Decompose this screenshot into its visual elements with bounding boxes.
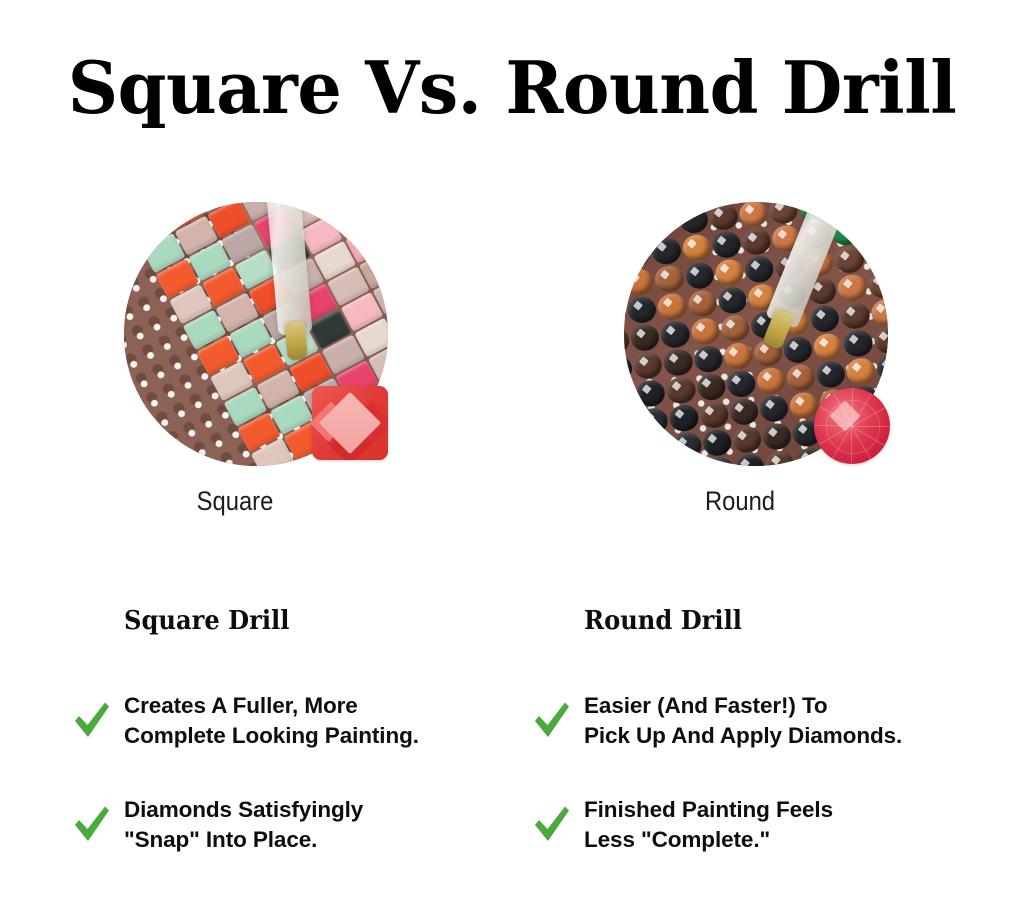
round-gem-swatch bbox=[814, 388, 890, 464]
list-item-label: Diamonds Satisfyingly "Snap" Into Place. bbox=[124, 795, 363, 855]
list-item-label: Creates A Fuller, More Complete Looking … bbox=[124, 691, 419, 751]
list-item: Creates A Fuller, More Complete Looking … bbox=[72, 691, 542, 751]
square-photo-caption: Square bbox=[103, 484, 367, 518]
check-icon bbox=[532, 803, 572, 847]
photo-comparison-row bbox=[0, 200, 1024, 480]
square-gem-swatch bbox=[312, 386, 388, 460]
list-item: Finished Painting Feels Less "Complete." bbox=[532, 795, 1002, 855]
square-drill-heading: Square Drill bbox=[124, 605, 289, 637]
infographic-canvas: Square Vs. Round Drill bbox=[0, 0, 1024, 922]
round-photo-block bbox=[612, 200, 912, 480]
list-item-label: Easier (And Faster!) To Pick Up And Appl… bbox=[584, 691, 902, 751]
check-icon bbox=[72, 803, 112, 847]
pen-wax-tip bbox=[285, 321, 308, 361]
check-icon bbox=[72, 699, 112, 743]
check-icon bbox=[532, 699, 572, 743]
list-item: Diamonds Satisfyingly "Snap" Into Place. bbox=[72, 795, 542, 855]
page-title: Square Vs. Round Drill bbox=[15, 48, 1008, 128]
square-photo-block bbox=[112, 200, 412, 480]
round-drill-heading: Round Drill bbox=[584, 605, 742, 637]
list-item: Easier (And Faster!) To Pick Up And Appl… bbox=[532, 691, 1002, 751]
list-item-label: Finished Painting Feels Less "Complete." bbox=[584, 795, 833, 855]
benefits-section: Square Drill Creates A Fuller, More Comp… bbox=[0, 605, 1024, 895]
round-photo-caption: Round bbox=[608, 484, 872, 518]
